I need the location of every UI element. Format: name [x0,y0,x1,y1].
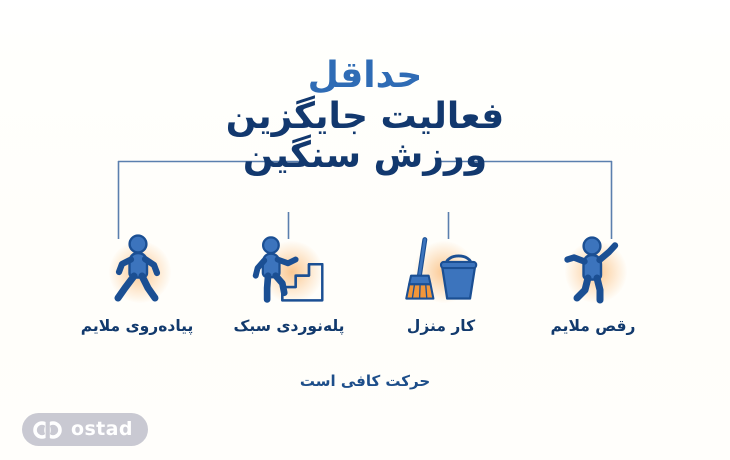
activity-label: کار منزل [407,317,475,336]
activity-items-row: رقص ملایم [0,232,730,336]
page-title: حداقل فعالیت جایگزین ورزش سنگین [0,58,730,175]
walking-person-icon [98,232,176,306]
ostad-logo[interactable]: ostad [22,413,148,446]
stair-climbing-person-icon [250,232,328,306]
title-line-1: حداقل [0,58,730,95]
activity-item-gentle-dance: رقص ملایم [518,232,668,336]
activity-item-housework: کار منزل [366,232,516,336]
broom-and-bucket-icon [402,232,480,306]
tagline-text: حرکت کافی است [0,372,730,390]
dancing-person-icon [554,232,632,306]
logo-wordmark: ostad [71,420,133,439]
activity-label: رقص ملایم [551,317,636,336]
double-ring-logo-icon [33,421,63,439]
title-line-3: ورزش سنگین [0,138,730,175]
activity-item-stair-climbing: پله‌نوردی سبک [214,232,364,336]
infographic-canvas: حداقل فعالیت جایگزین ورزش سنگین [0,0,730,460]
title-line-2: فعالیت جایگزین [0,99,730,136]
activity-label: پیاده‌روی ملایم [81,317,194,336]
activity-label: پله‌نوردی سبک [234,317,345,336]
activity-item-gentle-walking: پیاده‌روی ملایم [62,232,212,336]
